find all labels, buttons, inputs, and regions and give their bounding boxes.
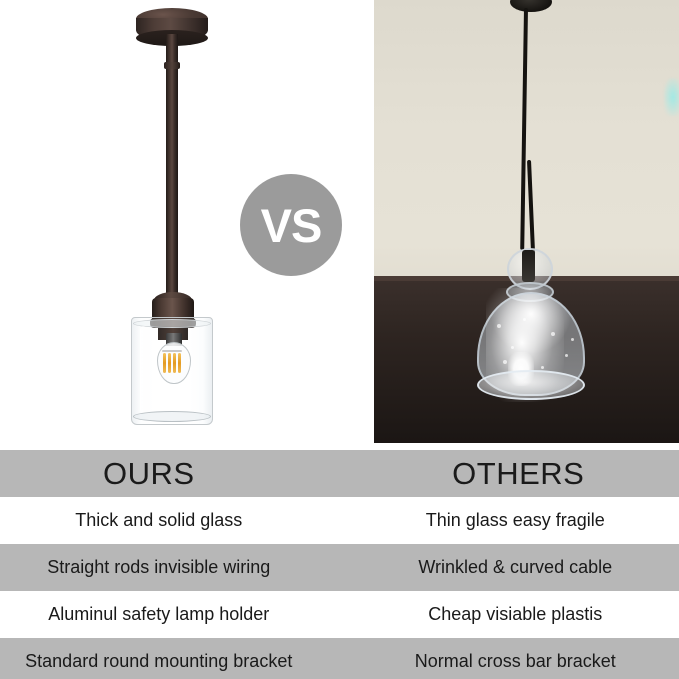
black-cross-bar-canopy [510, 0, 552, 12]
cell-others: Normal cross bar bracket [340, 651, 679, 672]
straight-downrod [166, 34, 178, 300]
cell-others: Thin glass easy fragile [340, 510, 679, 531]
filament-strip [173, 353, 176, 373]
curved-black-cable [520, 8, 528, 250]
cell-ours: Aluminul safety lamp holder [0, 604, 340, 625]
table-row: Standard round mounting bracket Normal c… [0, 638, 679, 679]
curved-black-cable-lower [527, 160, 535, 255]
filament-strip [178, 353, 181, 373]
header-ours: OURS [0, 456, 340, 492]
glass-shade-bottom-rim [133, 411, 211, 422]
cell-ours: Thick and solid glass [0, 510, 340, 531]
teal-light-reflection [664, 78, 679, 116]
cell-others: Wrinkled & curved cable [340, 557, 679, 578]
comparison-table: OURS OTHERS Thick and solid glass Thin g… [0, 450, 679, 679]
top-comparison-area: VS [0, 0, 679, 448]
table-row: Aluminul safety lamp holder Cheap visiab… [0, 591, 679, 638]
downrod-joint [164, 62, 180, 69]
competitor-product-photo [374, 0, 679, 443]
table-row: Thick and solid glass Thin glass easy fr… [0, 497, 679, 544]
filament-support [162, 350, 182, 352]
dome-shade-bottom-rim [477, 370, 585, 400]
filament-strip [168, 353, 171, 373]
vs-badge-label: VS [261, 202, 322, 249]
table-row: Straight rods invisible wiring Wrinkled … [0, 544, 679, 591]
filament-strip [163, 353, 166, 373]
glass-seed-bubble [565, 354, 568, 357]
vs-badge: VS [240, 174, 342, 276]
cell-ours: Standard round mounting bracket [0, 651, 340, 672]
comparison-infographic: VS [0, 0, 679, 679]
glass-seed-bubble [571, 338, 574, 341]
visible-plastic-socket [522, 250, 535, 282]
cell-others: Cheap visiable plastis [340, 604, 679, 625]
header-others: OTHERS [340, 456, 679, 492]
glass-highlight [140, 326, 147, 414]
cell-ours: Straight rods invisible wiring [0, 557, 340, 578]
table-header-row: OURS OTHERS [0, 450, 679, 497]
